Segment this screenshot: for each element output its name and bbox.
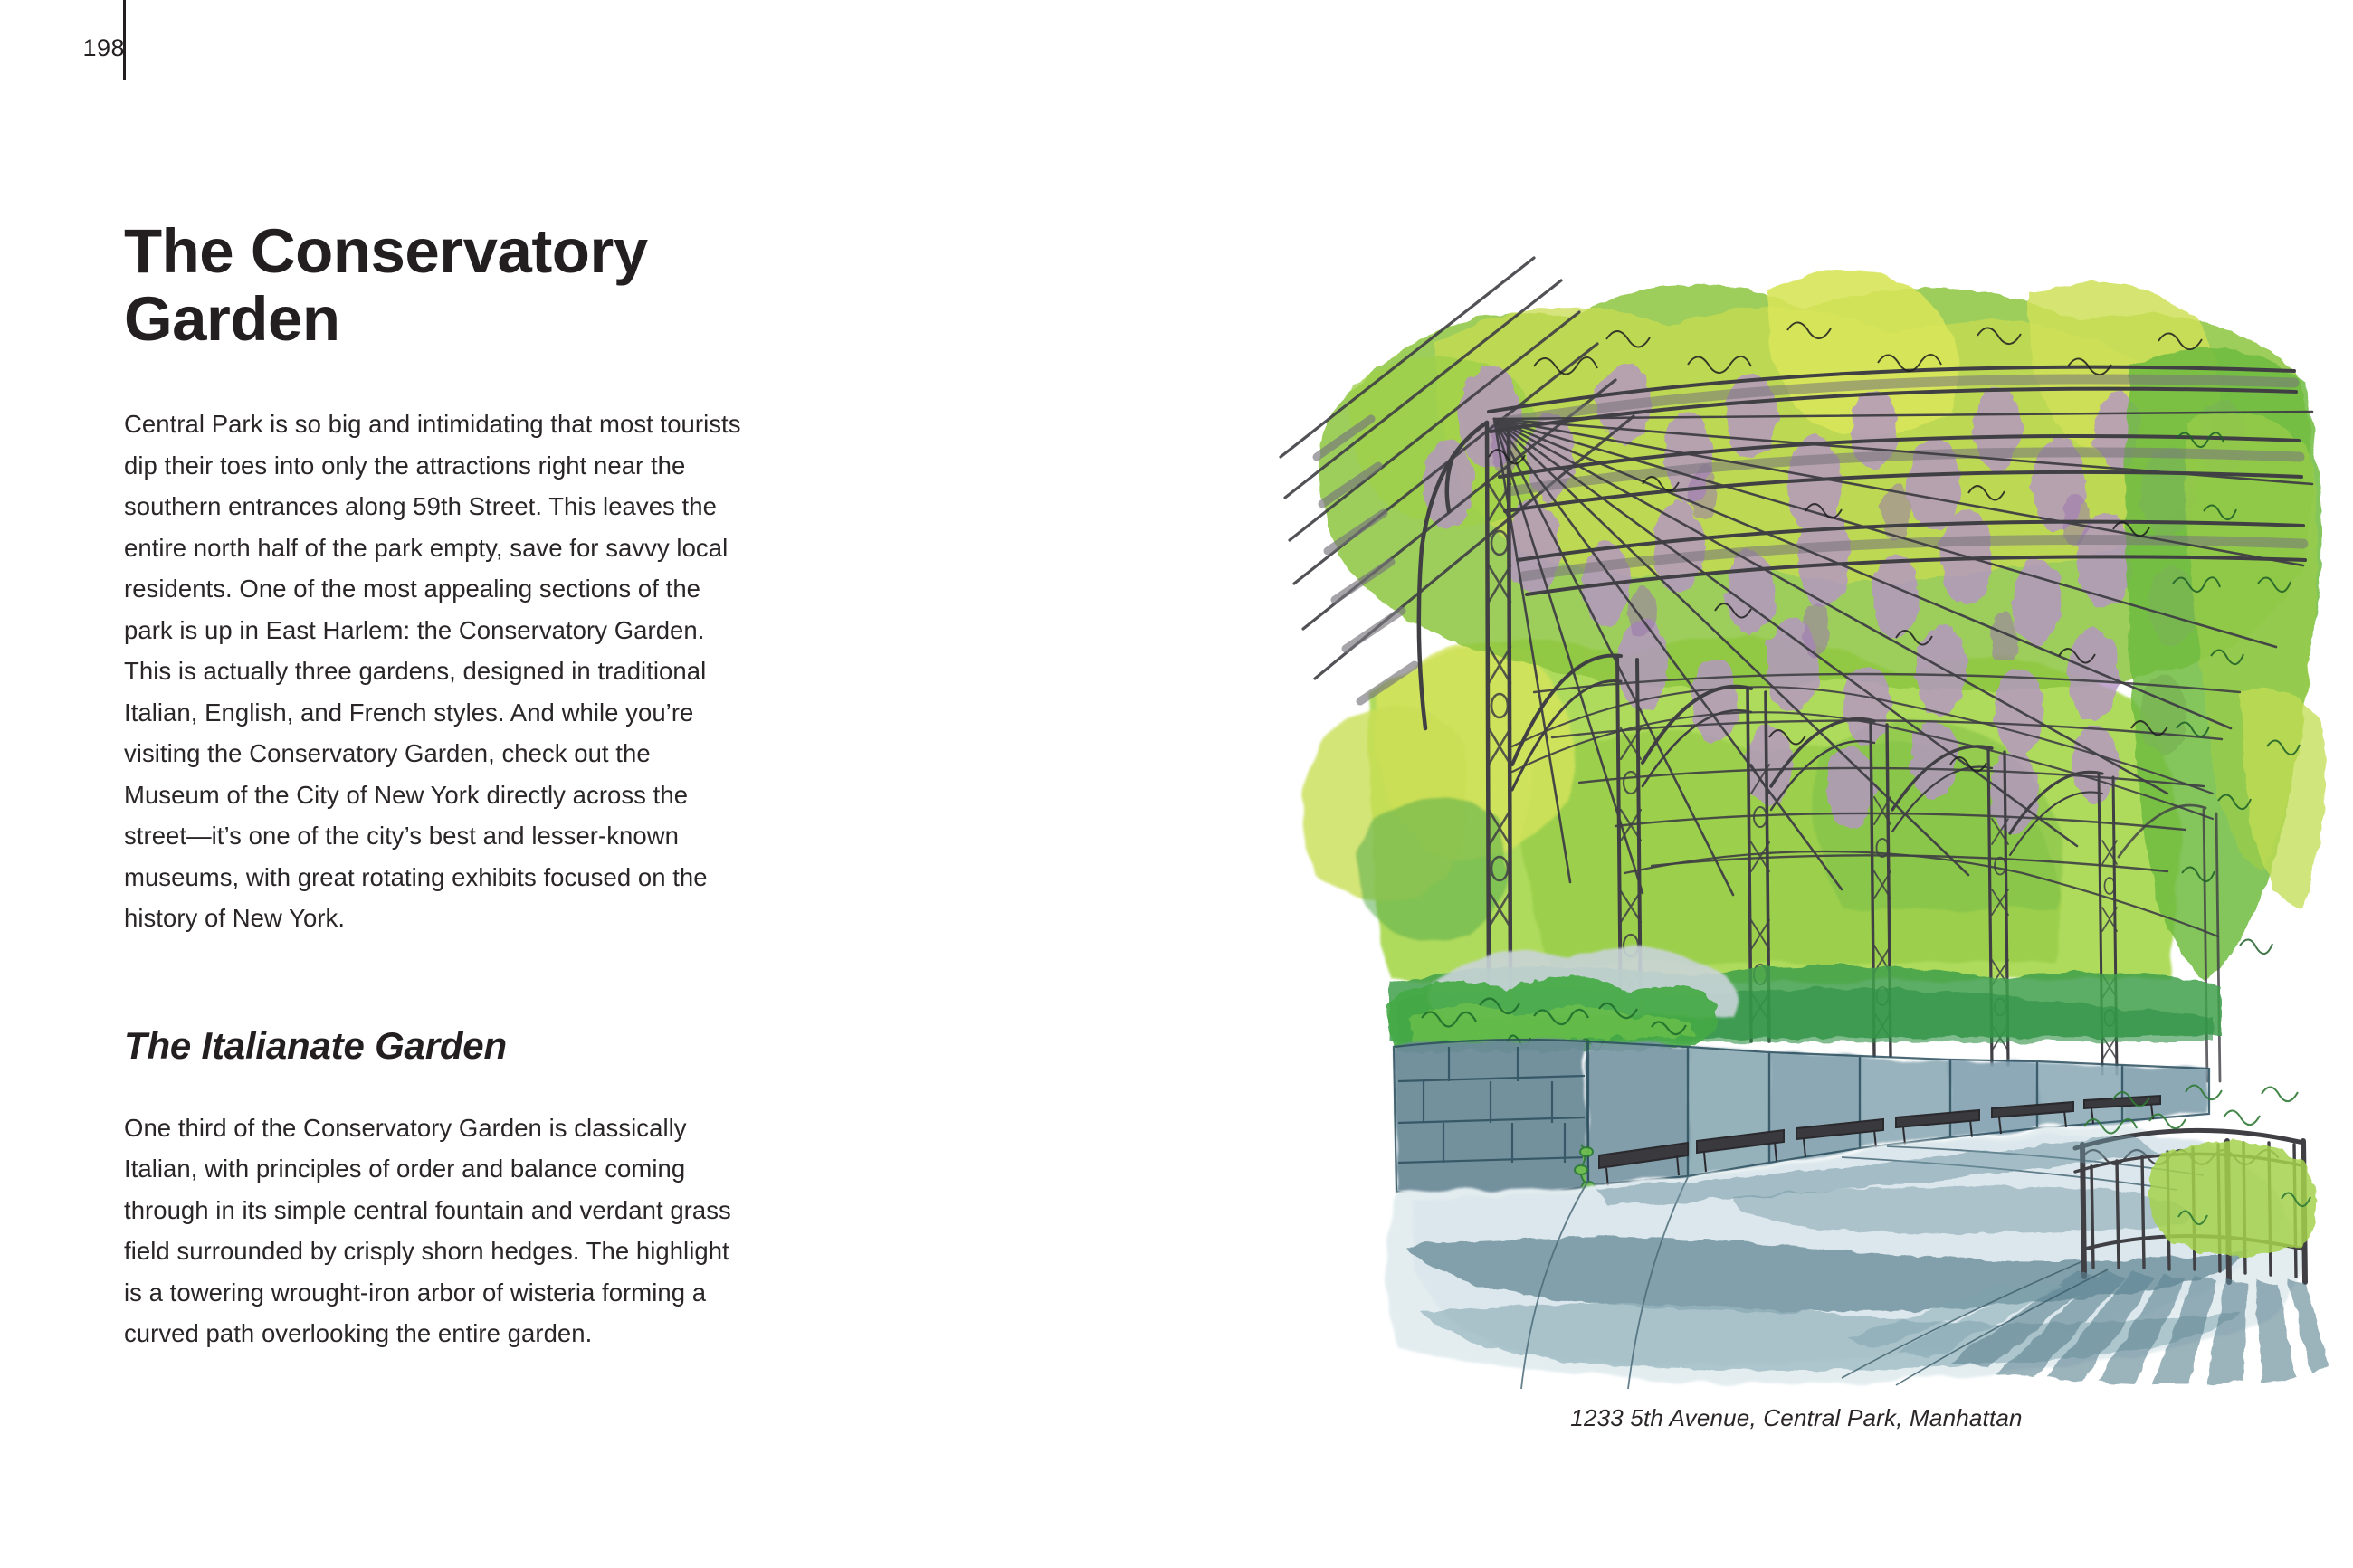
page-title: The Conservatory Garden — [124, 217, 767, 353]
illustration-caption: 1233 5th Avenue, Central Park, Manhattan — [1262, 1404, 2330, 1432]
hanging-vine-curtain — [2125, 347, 2326, 982]
book-page: 198 The Conservatory Garden Central Park… — [0, 0, 2353, 1568]
text-column: The Conservatory Garden Central Park is … — [124, 217, 767, 1354]
railing-backdrop-green — [2149, 1142, 2316, 1256]
section-paragraph: One third of the Conservatory Garden is … — [124, 1107, 748, 1354]
folio-divider-rule — [123, 0, 126, 80]
page-number: 198 — [62, 34, 125, 62]
wisteria-pergola-illustration — [1262, 185, 2330, 1389]
illustration-figure — [1262, 185, 2330, 1389]
section-subheading: The Italianate Garden — [124, 1024, 767, 1068]
intro-paragraph: Central Park is so big and intimidating … — [124, 404, 748, 939]
